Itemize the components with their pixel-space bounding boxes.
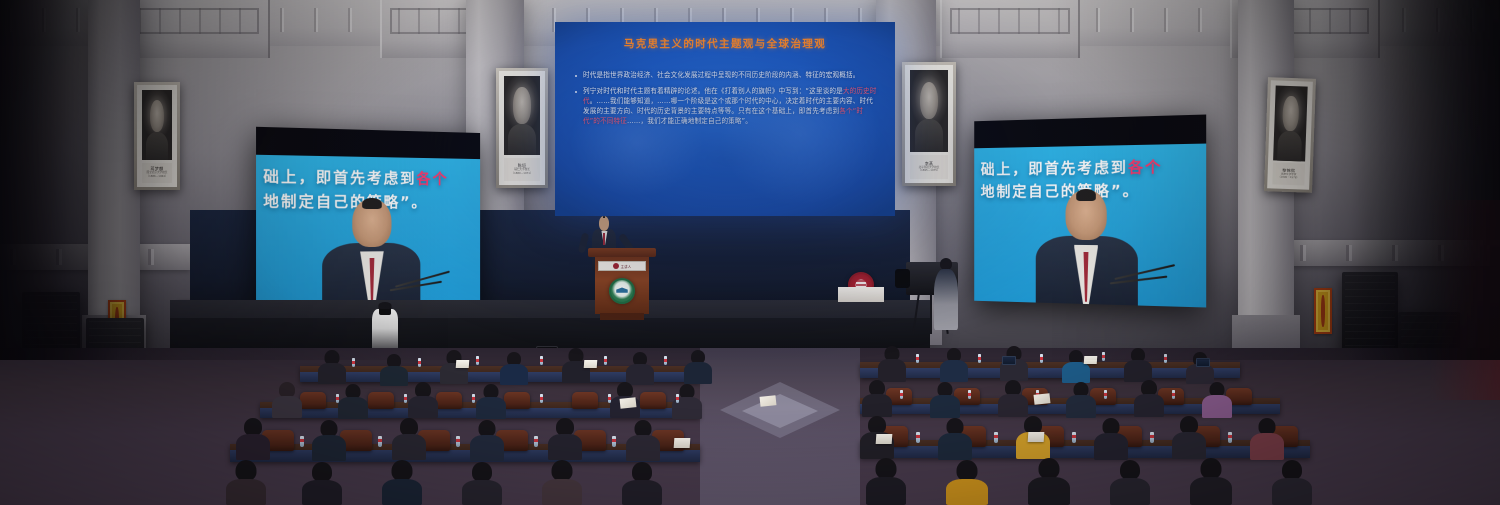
audience-member	[338, 384, 368, 419]
bullet-text: 。……我们能够知道，……哪一个阶级是这个或那个时代的中心，决定着时代的主要内容、…	[583, 97, 873, 115]
chair[interactable]	[572, 392, 598, 409]
water-bottle	[540, 356, 543, 365]
document	[760, 395, 777, 407]
audience-member	[946, 460, 988, 505]
water-bottle	[916, 354, 919, 363]
name-card	[584, 360, 598, 368]
crest-icon	[613, 263, 619, 269]
water-bottle	[676, 394, 679, 403]
water-bottle	[1228, 432, 1232, 443]
water-bottle	[300, 436, 304, 447]
chair[interactable]	[368, 392, 394, 409]
audience-member	[236, 418, 270, 460]
water-bottle	[418, 358, 421, 367]
portrait-years: （1880－1971）	[512, 173, 533, 176]
document	[1034, 393, 1051, 405]
ceiling-beam	[120, 0, 270, 58]
water-bottle	[978, 354, 981, 363]
audience-member	[462, 462, 502, 505]
water-bottle	[534, 436, 538, 447]
slide-title: 马克思主义的时代主题观与全球治理观	[555, 36, 895, 51]
water-bottle	[1150, 432, 1154, 443]
audience-member	[866, 458, 906, 505]
camera-lens-icon	[895, 269, 911, 288]
chair[interactable]	[300, 392, 326, 409]
water-bottle	[352, 358, 355, 367]
podium-nameplate-text: 主讲人	[621, 264, 632, 269]
audience-member	[500, 352, 528, 385]
water-bottle	[916, 432, 920, 443]
left-led-screen: 础上，即首先考虑到各个 地制定自己的策略”。	[256, 127, 480, 311]
led-line1-highlight: 各个	[416, 170, 448, 188]
water-bottle	[608, 394, 611, 403]
led-bezel	[256, 127, 480, 159]
chair[interactable]	[436, 392, 462, 409]
portrait-years: （1886－1964）	[147, 176, 168, 179]
name-card	[456, 360, 470, 368]
audience-member	[684, 350, 712, 384]
water-bottle	[612, 436, 616, 447]
led-line1-highlight: 各个	[1128, 158, 1163, 177]
audience-member	[1172, 416, 1206, 459]
slide-body: 时代是指世界政治经济、社会文化发展过程中呈现的不同历史阶段的内涵、特征的宏观概括…	[575, 70, 879, 132]
water-bottle	[664, 356, 667, 365]
slide-bullet: 列宁对时代和时代主题有着精辟的论述。他在《打着别人的旗帜》中写到：“这里谈的是大…	[575, 86, 879, 126]
lecture-hall-scene: 蒋梦麟 国立北京大学校长 （1886－1964） 陈垣 辅仁大学校长 （1880…	[0, 0, 1500, 505]
left-shadow	[0, 0, 120, 360]
water-bottle	[1072, 432, 1076, 443]
led-speaker-image	[1036, 190, 1138, 306]
audience-member	[1250, 418, 1284, 460]
right-led-screen: 础上，即首先考虑到各个 地制定自己的策略”。	[974, 114, 1206, 307]
podium: 主讲人	[592, 248, 652, 320]
podium-nameplate: 主讲人	[598, 261, 646, 271]
audience-member	[470, 420, 504, 461]
laptop[interactable]	[1002, 356, 1016, 365]
water-bottle	[404, 394, 407, 403]
audience-member	[542, 460, 582, 505]
bullet-dot-icon	[575, 91, 577, 93]
audience-member	[1062, 350, 1090, 383]
wall-portrait: 蒋梦麟 国立北京大学校长 （1886－1964）	[134, 82, 180, 190]
audience-member	[1066, 382, 1096, 418]
audience-member	[408, 382, 438, 418]
audience-member	[940, 348, 968, 382]
led-line1: 础上，即首先考虑到	[981, 158, 1128, 178]
audience-member	[998, 380, 1028, 417]
audience-member	[1202, 382, 1232, 418]
water-bottle	[1104, 390, 1107, 399]
water-bottle	[540, 394, 543, 403]
audience-member	[930, 382, 960, 418]
audience-member	[626, 420, 660, 461]
name-card	[876, 434, 893, 444]
water-bottle	[336, 394, 339, 403]
bullet-text: ……，我们才能正确地制定自己的策略”。	[627, 117, 752, 125]
center-projection-screen: 马克思主义的时代主题观与全球治理观 时代是指世界政治经济、社会文化发展过程中呈现…	[555, 22, 895, 216]
water-bottle	[1040, 354, 1043, 363]
audience-member	[1124, 348, 1152, 382]
audience-member	[380, 354, 408, 386]
audience-member	[318, 350, 346, 384]
portrait-years: （1895－1975）	[919, 170, 940, 173]
water-bottle	[900, 390, 903, 399]
water-bottle	[968, 390, 971, 399]
audience-member	[622, 462, 662, 505]
audience-member	[862, 380, 892, 417]
audience-member	[1110, 460, 1150, 505]
anniversary-seal-pedestal	[838, 272, 884, 302]
audience-member	[938, 418, 972, 460]
led-speaker-image	[322, 199, 420, 310]
laptop[interactable]	[1196, 358, 1210, 367]
water-bottle	[1102, 352, 1105, 361]
audience-member	[1094, 418, 1128, 460]
university-crest-icon	[609, 278, 635, 304]
led-bezel	[974, 114, 1206, 148]
document	[620, 397, 637, 409]
conference-table	[860, 440, 1310, 458]
bullet-text: 列宁对时代和时代主题有着精辟的论述。他在《打着别人的旗帜》中写到：“这里谈的是	[583, 87, 843, 95]
audience-member	[1272, 460, 1312, 505]
water-bottle	[378, 436, 382, 447]
audience-member	[1186, 352, 1214, 384]
water-bottle	[1164, 354, 1167, 363]
audience-member	[302, 462, 342, 505]
portrait-name: 李蒸	[925, 162, 934, 166]
bullet-text: 时代是指世界政治经济、社会文化发展过程中呈现的不同历史阶段的内涵、特征的宏观概括…	[583, 71, 860, 79]
cap-icon	[379, 302, 392, 309]
audience-member	[312, 420, 346, 461]
water-bottle	[604, 356, 607, 365]
bullet-dot-icon	[575, 75, 577, 77]
audience-member	[626, 352, 654, 385]
water-bottle	[994, 432, 998, 443]
name-card	[1084, 356, 1098, 364]
decorative-panel	[1314, 288, 1332, 334]
conference-table	[860, 362, 1240, 378]
led-line1: 础上，即首先考虑到	[263, 168, 416, 188]
water-bottle	[1172, 390, 1175, 399]
wall-portrait: 陈垣 辅仁大学校长 （1880－1971）	[496, 68, 548, 188]
ceiling-beam	[940, 0, 1080, 58]
camera-operator	[934, 258, 958, 330]
chair[interactable]	[504, 392, 530, 409]
chair[interactable]	[640, 392, 666, 409]
portrait-years: （1890－1978）	[1278, 177, 1299, 180]
audience-member	[382, 460, 422, 505]
wall-portrait: 黎锦熙 语言文字学家 （1890－1978）	[1264, 77, 1316, 193]
audience-member	[878, 346, 906, 382]
audience-member	[226, 460, 266, 505]
red-curtain	[1430, 200, 1500, 400]
audience-member	[1028, 458, 1070, 505]
audience-member	[548, 418, 582, 460]
audience-member	[1190, 458, 1232, 505]
water-bottle	[476, 356, 479, 365]
center-aisle	[700, 348, 860, 505]
water-bottle	[456, 436, 460, 447]
name-card	[1028, 432, 1045, 442]
wall-portrait: 李蒸 北平师范大学校长 （1895－1975）	[902, 62, 956, 186]
water-bottle	[472, 394, 475, 403]
name-card	[674, 438, 691, 448]
audience-member	[476, 384, 506, 419]
audience-member	[272, 382, 302, 418]
audience-member	[392, 418, 426, 460]
slide-bullet: 时代是指世界政治经济、社会文化发展过程中呈现的不同历史阶段的内涵、特征的宏观概括…	[575, 70, 879, 80]
audience-member	[1134, 380, 1164, 417]
